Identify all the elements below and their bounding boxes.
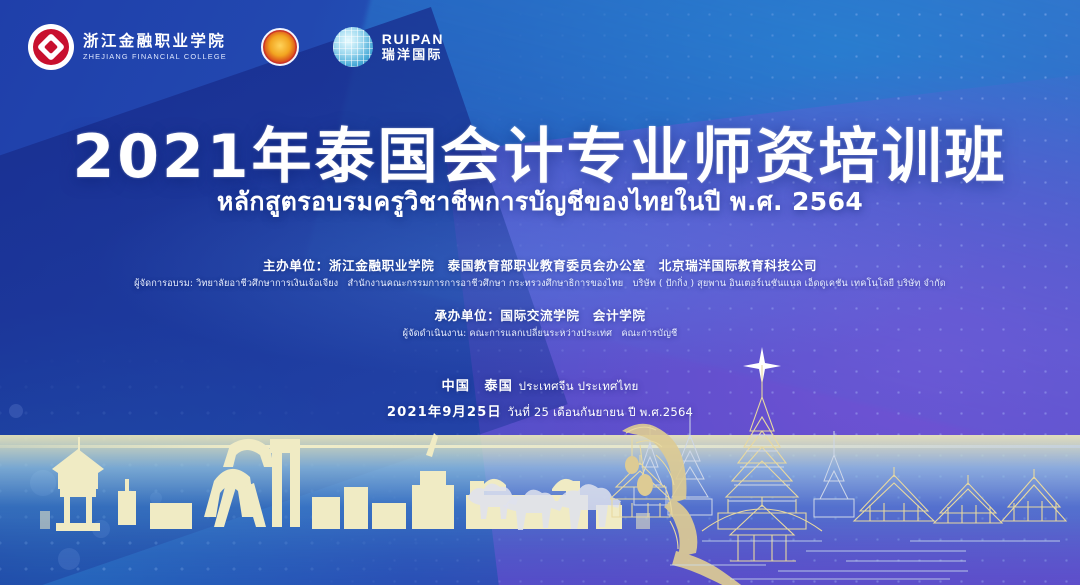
- logo-thai-ministry: [261, 28, 299, 66]
- page-title-th: หลักสูตรอบรมครูวิชาชีพการบัญชีของไทยในปี…: [0, 182, 1080, 222]
- logo-bar: 浙江金融职业学院 ZHEJIANG FINANCIAL COLLEGE RUIP…: [28, 24, 444, 70]
- organizer-line-cn: 承办单位：国际交流学院 会计学院: [0, 306, 1080, 326]
- thai-royal-barge-and-grand-palace: [610, 335, 1080, 585]
- logo-name-en: ZHEJIANG FINANCIAL COLLEGE: [83, 52, 227, 61]
- host-line-cn: 主办单位：浙江金融职业学院 泰国教育部职业教育委员会办公室 北京瑞洋国际教育科技…: [0, 256, 1080, 276]
- logo-name-cn: 浙江金融职业学院: [83, 33, 227, 49]
- poster-canvas: 浙江金融职业学院 ZHEJIANG FINANCIAL COLLEGE RUIP…: [0, 0, 1080, 585]
- thai-garuda-emblem-icon: [261, 28, 299, 66]
- logo-zhejiang-financial-college: 浙江金融职业学院 ZHEJIANG FINANCIAL COLLEGE: [28, 24, 227, 70]
- logo-ruipan-international: RUIPAN 瑞洋国际: [333, 27, 444, 67]
- logo-name-en: RUIPAN: [382, 32, 444, 46]
- logo-text-block: 浙江金融职业学院 ZHEJIANG FINANCIAL COLLEGE: [83, 33, 227, 61]
- host-line-th: ผู้จัดการอบรม: วิทยาลัยอาชีวศึกษาการเงิน…: [0, 276, 1080, 293]
- circular-seal-icon: [28, 24, 74, 70]
- globe-icon: [333, 27, 373, 67]
- logo-text-block: RUIPAN 瑞洋国际: [382, 32, 444, 62]
- credits-block: 主办单位：浙江金融职业学院 泰国教育部职业教育委员会办公室 北京瑞洋国际教育科技…: [0, 256, 1080, 342]
- logo-name-cn: 瑞洋国际: [382, 49, 444, 62]
